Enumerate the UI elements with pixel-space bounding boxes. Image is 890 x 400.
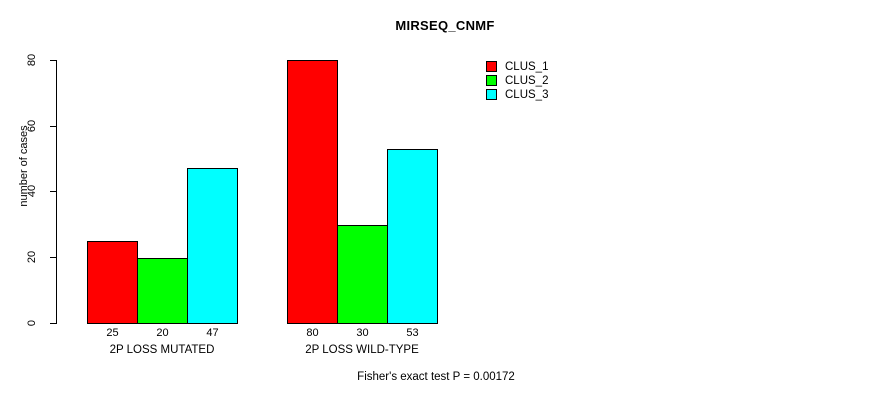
baseline-group-1 [87, 323, 238, 324]
bar-value-mutated-clus-2: 20 [137, 327, 188, 340]
bar-value-wildtype-clus-1: 80 [287, 327, 338, 340]
y-axis-line [56, 60, 57, 324]
chart-canvas: MIRSEQ_CNMF number of cases 0 20 40 60 [0, 0, 890, 400]
legend-swatch-clus-3 [486, 89, 497, 100]
plot-area: number of cases 0 20 40 60 80 [0, 0, 890, 400]
group-label-2p-loss-mutated: 2P LOSS MUTATED [62, 343, 262, 357]
bar-value-mutated-clus-1: 25 [87, 327, 138, 340]
bar-value-wildtype-clus-3: 53 [387, 327, 438, 340]
legend-label-clus-1: CLUS_1 [505, 60, 548, 74]
legend-label-clus-2: CLUS_2 [505, 74, 548, 88]
fisher-test-text: Fisher's exact test P = 0.00172 [357, 371, 515, 383]
y-tick-80 [50, 60, 56, 61]
statistical-annotation: Fisher's exact test P = 0.00172 [0, 371, 890, 383]
y-tick-0 [50, 323, 56, 324]
y-tick-20 [50, 257, 56, 258]
bar-wildtype-clus-2[interactable] [337, 225, 388, 324]
bar-mutated-clus-1[interactable] [87, 241, 138, 324]
legend-swatch-clus-2 [486, 75, 497, 86]
legend-label-clus-3: CLUS_3 [505, 88, 548, 102]
y-tick-40 [50, 191, 56, 192]
y-tick-label-20: 20 [25, 243, 39, 271]
bar-value-mutated-clus-3: 47 [187, 327, 238, 340]
bar-mutated-clus-3[interactable] [187, 168, 238, 324]
baseline-group-2 [287, 323, 438, 324]
bar-wildtype-clus-1[interactable] [287, 60, 338, 324]
legend-swatch-clus-1 [486, 61, 497, 72]
y-tick-label-0: 0 [25, 309, 39, 337]
y-tick-label-80: 80 [25, 46, 39, 74]
bar-value-wildtype-clus-2: 30 [337, 327, 388, 340]
y-tick-60 [50, 126, 56, 127]
bar-mutated-clus-2[interactable] [137, 258, 188, 324]
y-tick-label-60: 60 [25, 112, 39, 140]
bar-wildtype-clus-3[interactable] [387, 149, 438, 324]
y-tick-label-40: 40 [25, 177, 39, 205]
group-label-2p-loss-wild-type: 2P LOSS WILD-TYPE [262, 343, 462, 357]
